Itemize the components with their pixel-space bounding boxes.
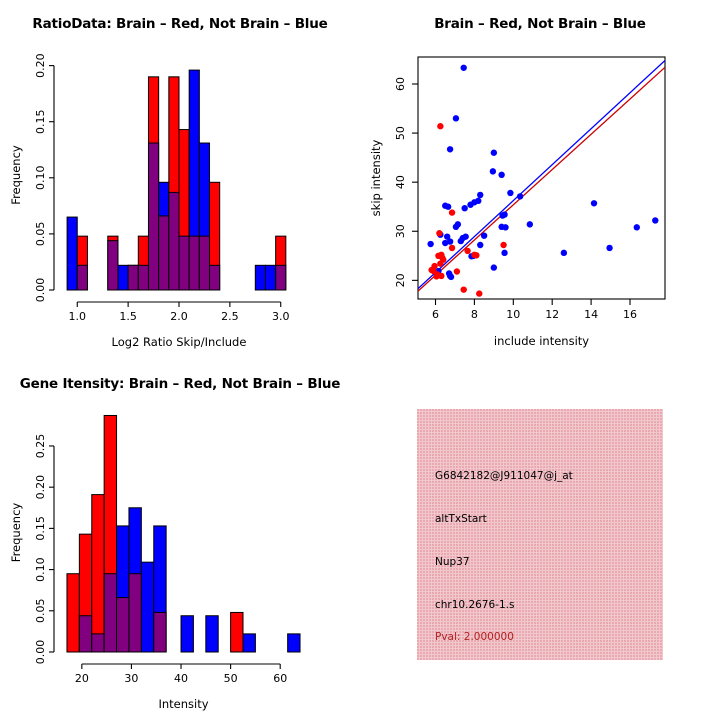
scatter-point — [606, 245, 612, 251]
histogram-bar-overlap — [154, 612, 166, 652]
y-axis-label: Frequency — [9, 145, 23, 205]
histogram-bar-overlap — [129, 574, 141, 652]
svg-text:0.20: 0.20 — [34, 53, 47, 78]
scatter-point — [433, 273, 439, 279]
gene-info-box: G6842182@J911047@j_at altTxStart Nup37 c… — [417, 409, 663, 660]
probe-id-text: G6842182@J911047@j_at — [435, 470, 573, 482]
scatter-point — [481, 232, 487, 238]
panel-ratio-histogram: RatioData: Brain – Red, Not Brain – Blue… — [0, 0, 360, 360]
histogram-bar — [141, 562, 153, 652]
x-axis-label: include intensity — [494, 334, 589, 348]
reference-line-blue-fit — [418, 60, 665, 288]
scatter-point — [448, 274, 454, 280]
ratio-histogram-plot: 0.000.050.100.150.201.01.52.02.53.0Log2 … — [0, 0, 360, 360]
svg-text:2.5: 2.5 — [221, 310, 239, 323]
scatter-point — [491, 264, 497, 270]
scatter-point — [454, 268, 460, 274]
histogram-bar — [92, 495, 104, 652]
svg-text:50: 50 — [394, 126, 407, 140]
event-type-text: altTxStart — [435, 513, 487, 525]
histogram-bar-overlap — [210, 265, 220, 290]
svg-text:1.5: 1.5 — [119, 310, 137, 323]
histogram-bar-overlap — [159, 216, 169, 290]
scatter-point — [445, 204, 451, 210]
histogram-bar — [206, 616, 218, 652]
scatter-point — [437, 123, 443, 129]
scatter-point — [634, 224, 640, 230]
svg-text:40: 40 — [394, 175, 407, 189]
histogram-bar-overlap — [108, 241, 118, 290]
scatter-point — [477, 192, 483, 198]
x-axis-label: Intensity — [158, 697, 208, 711]
svg-text:40: 40 — [174, 672, 188, 685]
histogram-bar-overlap — [276, 265, 286, 290]
x-axis-label: Log2 Ratio Skip/Include — [112, 335, 247, 349]
svg-text:0.05: 0.05 — [34, 222, 47, 247]
plot-frame — [418, 57, 665, 299]
histogram-bar-overlap — [138, 265, 148, 290]
svg-text:12: 12 — [545, 308, 559, 321]
histogram-bar — [288, 634, 300, 652]
scatter-point — [501, 250, 507, 256]
svg-text:0.25: 0.25 — [34, 434, 47, 459]
histogram-bar — [255, 265, 265, 290]
scatter-point — [498, 172, 504, 178]
scatter-point — [458, 238, 464, 244]
scatter-point — [561, 250, 567, 256]
histogram-bar-overlap — [92, 634, 104, 652]
histogram-bar-overlap — [128, 265, 138, 290]
histogram-bar — [118, 265, 128, 290]
scatter-point — [436, 230, 442, 236]
figure-canvas: RatioData: Brain – Red, Not Brain – Blue… — [0, 0, 720, 720]
svg-text:0.10: 0.10 — [34, 557, 47, 582]
svg-text:2.0: 2.0 — [170, 310, 188, 323]
gene-histogram-plot: 0.000.050.100.150.200.252030405060Intens… — [0, 360, 360, 720]
scatter-point — [453, 224, 459, 230]
svg-text:14: 14 — [584, 308, 598, 321]
scatter-point — [517, 193, 523, 199]
scatter-point — [464, 248, 470, 254]
svg-text:10: 10 — [506, 308, 520, 321]
svg-text:0.05: 0.05 — [34, 599, 47, 624]
scatter-point — [449, 209, 455, 215]
svg-text:0.15: 0.15 — [34, 516, 47, 541]
histogram-bar — [67, 574, 79, 652]
svg-text:0.20: 0.20 — [34, 475, 47, 500]
scatter-point — [461, 65, 467, 71]
gene-symbol-text: Nup37 — [435, 556, 470, 568]
histogram-bar-overlap — [117, 598, 129, 652]
svg-text:0.00: 0.00 — [34, 278, 47, 303]
scatter-point — [502, 224, 508, 230]
histogram-bar — [243, 634, 255, 652]
scatter-point — [500, 242, 506, 248]
histogram-bar — [181, 616, 193, 652]
svg-text:3.0: 3.0 — [272, 310, 290, 323]
svg-text:30: 30 — [124, 672, 138, 685]
histogram-bar-overlap — [104, 574, 116, 652]
scatter-point — [476, 290, 482, 296]
scatter-point — [591, 200, 597, 206]
scatter-point — [437, 260, 443, 266]
histogram-bar-overlap — [77, 265, 87, 290]
svg-text:16: 16 — [623, 308, 637, 321]
panel-gene-histogram: Gene Itensity: Brain – Red, Not Brain – … — [0, 360, 360, 720]
scatter-point — [449, 245, 455, 251]
scatter-plot: 20304050606810121416include intensityski… — [360, 0, 720, 360]
scatter-point — [491, 150, 497, 156]
svg-text:60: 60 — [273, 672, 287, 685]
svg-text:0.00: 0.00 — [34, 640, 47, 665]
histogram-bar-overlap — [199, 236, 209, 290]
scatter-point — [453, 115, 459, 121]
histogram-bar-overlap — [189, 236, 199, 290]
svg-text:60: 60 — [394, 77, 407, 91]
histogram-bar — [265, 265, 275, 290]
panel-annotation: G6842182@J911047@j_at altTxStart Nup37 c… — [360, 360, 720, 720]
histogram-bar-overlap — [148, 143, 158, 290]
histogram-bar-overlap — [169, 192, 179, 290]
scatter-point — [507, 190, 513, 196]
reference-line-red-fit — [418, 67, 665, 291]
scatter-point — [477, 242, 483, 248]
scatter-point — [527, 221, 533, 227]
histogram-bar-overlap — [79, 616, 91, 652]
svg-text:6: 6 — [432, 308, 439, 321]
svg-text:1.0: 1.0 — [69, 310, 87, 323]
svg-text:20: 20 — [75, 672, 89, 685]
histogram-bar-overlap — [179, 236, 189, 290]
coordinate-text: chr10.2676-1.s — [435, 599, 514, 611]
scatter-point — [427, 241, 433, 247]
scatter-point — [490, 168, 496, 174]
svg-text:30: 30 — [394, 224, 407, 238]
scatter-point — [467, 202, 473, 208]
pvalue-text: Pval: 2.000000 — [435, 631, 514, 643]
svg-text:0.15: 0.15 — [34, 109, 47, 133]
svg-text:0.10: 0.10 — [34, 166, 47, 191]
scatter-point — [471, 252, 477, 258]
svg-text:20: 20 — [394, 273, 407, 287]
histogram-bar — [231, 612, 243, 652]
histogram-bar — [67, 217, 77, 290]
scatter-point — [461, 286, 467, 292]
scatter-point — [652, 217, 658, 223]
y-axis-label: Frequency — [9, 503, 23, 563]
svg-text:50: 50 — [224, 672, 238, 685]
scatter-point — [442, 240, 448, 246]
svg-text:8: 8 — [471, 308, 478, 321]
scatter-point — [499, 212, 505, 218]
y-axis-label: skip intensity — [369, 139, 383, 216]
panel-intensity-scatter: Brain – Red, Not Brain – Blue 2030405060… — [360, 0, 720, 360]
scatter-point — [461, 205, 467, 211]
scatter-point — [447, 146, 453, 152]
